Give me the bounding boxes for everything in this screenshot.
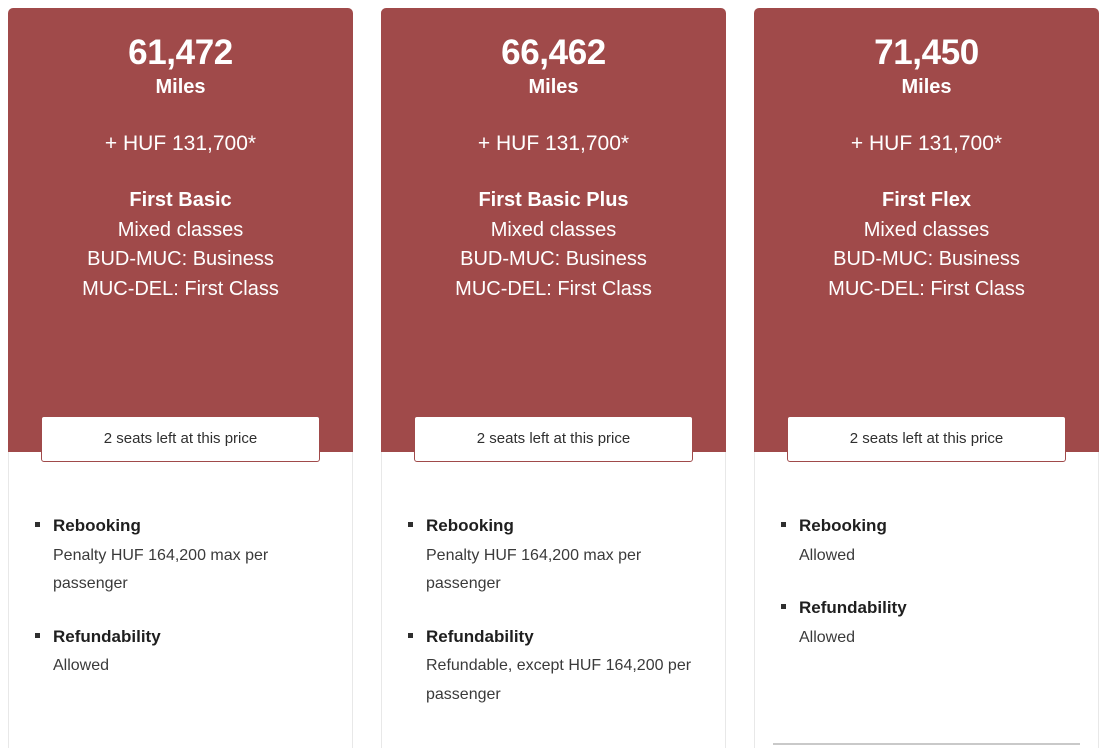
- card-divider: [773, 743, 1080, 745]
- fare-line-segment-1: BUD-MUC: Business: [18, 245, 343, 274]
- policy-title: Refundability: [799, 596, 1080, 621]
- miles-value: 66,462: [391, 34, 716, 71]
- policy-description: Refundable, except HUF 164,200 per passe…: [426, 652, 707, 709]
- policy-list: Rebooking Penalty HUF 164,200 max per pa…: [27, 514, 334, 681]
- bullet-square-icon: [781, 604, 786, 609]
- seats-left-badge: 2 seats left at this price: [41, 416, 320, 462]
- bullet-square-icon: [408, 633, 413, 638]
- policy-title: Rebooking: [426, 514, 707, 539]
- policy-title: Rebooking: [53, 514, 334, 539]
- fare-card-body: Rebooking Penalty HUF 164,200 max per pa…: [8, 452, 353, 748]
- cash-surcharge: + HUF 131,700*: [764, 130, 1089, 157]
- fare-line-cabin-mix: Mixed classes: [764, 216, 1089, 245]
- fare-name: First Flex: [764, 186, 1089, 215]
- policy-item-refundability: Refundability Allowed: [773, 596, 1080, 652]
- bullet-square-icon: [35, 522, 40, 527]
- policy-item-rebooking: Rebooking Penalty HUF 164,200 max per pa…: [27, 514, 334, 599]
- fare-line-segment-2: MUC-DEL: First Class: [764, 275, 1089, 304]
- cash-surcharge: + HUF 131,700*: [18, 130, 343, 157]
- fare-details: First Flex Mixed classes BUD-MUC: Busine…: [764, 186, 1089, 304]
- policy-title: Refundability: [53, 625, 334, 650]
- fare-name: First Basic Plus: [391, 186, 716, 215]
- policy-item-rebooking: Rebooking Allowed: [773, 514, 1080, 570]
- policy-item-rebooking: Rebooking Penalty HUF 164,200 max per pa…: [400, 514, 707, 599]
- policy-description: Penalty HUF 164,200 max per passenger: [426, 542, 707, 599]
- policy-list: Rebooking Penalty HUF 164,200 max per pa…: [400, 514, 707, 709]
- fare-name: First Basic: [18, 186, 343, 215]
- policy-description: Allowed: [53, 652, 334, 680]
- policy-item-refundability: Refundability Allowed: [27, 625, 334, 681]
- policy-description: Allowed: [799, 624, 1080, 652]
- seats-left-badge: 2 seats left at this price: [787, 416, 1066, 462]
- cash-surcharge: + HUF 131,700*: [391, 130, 716, 157]
- fare-line-cabin-mix: Mixed classes: [391, 216, 716, 245]
- miles-label: Miles: [764, 72, 1089, 102]
- miles-label: Miles: [18, 72, 343, 102]
- fare-card-first-basic[interactable]: 61,472 Miles + HUF 131,700* First Basic …: [8, 8, 353, 748]
- fare-line-segment-2: MUC-DEL: First Class: [391, 275, 716, 304]
- policy-title: Rebooking: [799, 514, 1080, 539]
- fare-card-header: 61,472 Miles + HUF 131,700* First Basic …: [8, 8, 353, 452]
- bullet-square-icon: [408, 522, 413, 527]
- policy-title: Refundability: [426, 625, 707, 650]
- policy-item-refundability: Refundability Refundable, except HUF 164…: [400, 625, 707, 710]
- policy-description: Allowed: [799, 542, 1080, 570]
- fare-card-body: Rebooking Penalty HUF 164,200 max per pa…: [381, 452, 726, 748]
- fare-line-segment-1: BUD-MUC: Business: [391, 245, 716, 274]
- fare-card-first-flex[interactable]: 71,450 Miles + HUF 131,700* First Flex M…: [754, 8, 1099, 748]
- fare-card-header: 66,462 Miles + HUF 131,700* First Basic …: [381, 8, 726, 452]
- bullet-square-icon: [781, 522, 786, 527]
- miles-label: Miles: [391, 72, 716, 102]
- fare-details: First Basic Plus Mixed classes BUD-MUC: …: [391, 186, 716, 304]
- policy-list: Rebooking Allowed Refundability Allowed: [773, 514, 1080, 652]
- fare-card-header: 71,450 Miles + HUF 131,700* First Flex M…: [754, 8, 1099, 452]
- fare-line-segment-1: BUD-MUC: Business: [764, 245, 1089, 274]
- fare-line-segment-2: MUC-DEL: First Class: [18, 275, 343, 304]
- fare-options-grid: 61,472 Miles + HUF 131,700* First Basic …: [0, 0, 1100, 748]
- fare-line-cabin-mix: Mixed classes: [18, 216, 343, 245]
- fare-details: First Basic Mixed classes BUD-MUC: Busin…: [18, 186, 343, 304]
- fare-card-first-basic-plus[interactable]: 66,462 Miles + HUF 131,700* First Basic …: [381, 8, 726, 748]
- policy-description: Penalty HUF 164,200 max per passenger: [53, 542, 334, 599]
- miles-value: 61,472: [18, 34, 343, 71]
- fare-card-body: Rebooking Allowed Refundability Allowed: [754, 452, 1099, 748]
- bullet-square-icon: [35, 633, 40, 638]
- seats-left-badge: 2 seats left at this price: [414, 416, 693, 462]
- miles-value: 71,450: [764, 34, 1089, 71]
